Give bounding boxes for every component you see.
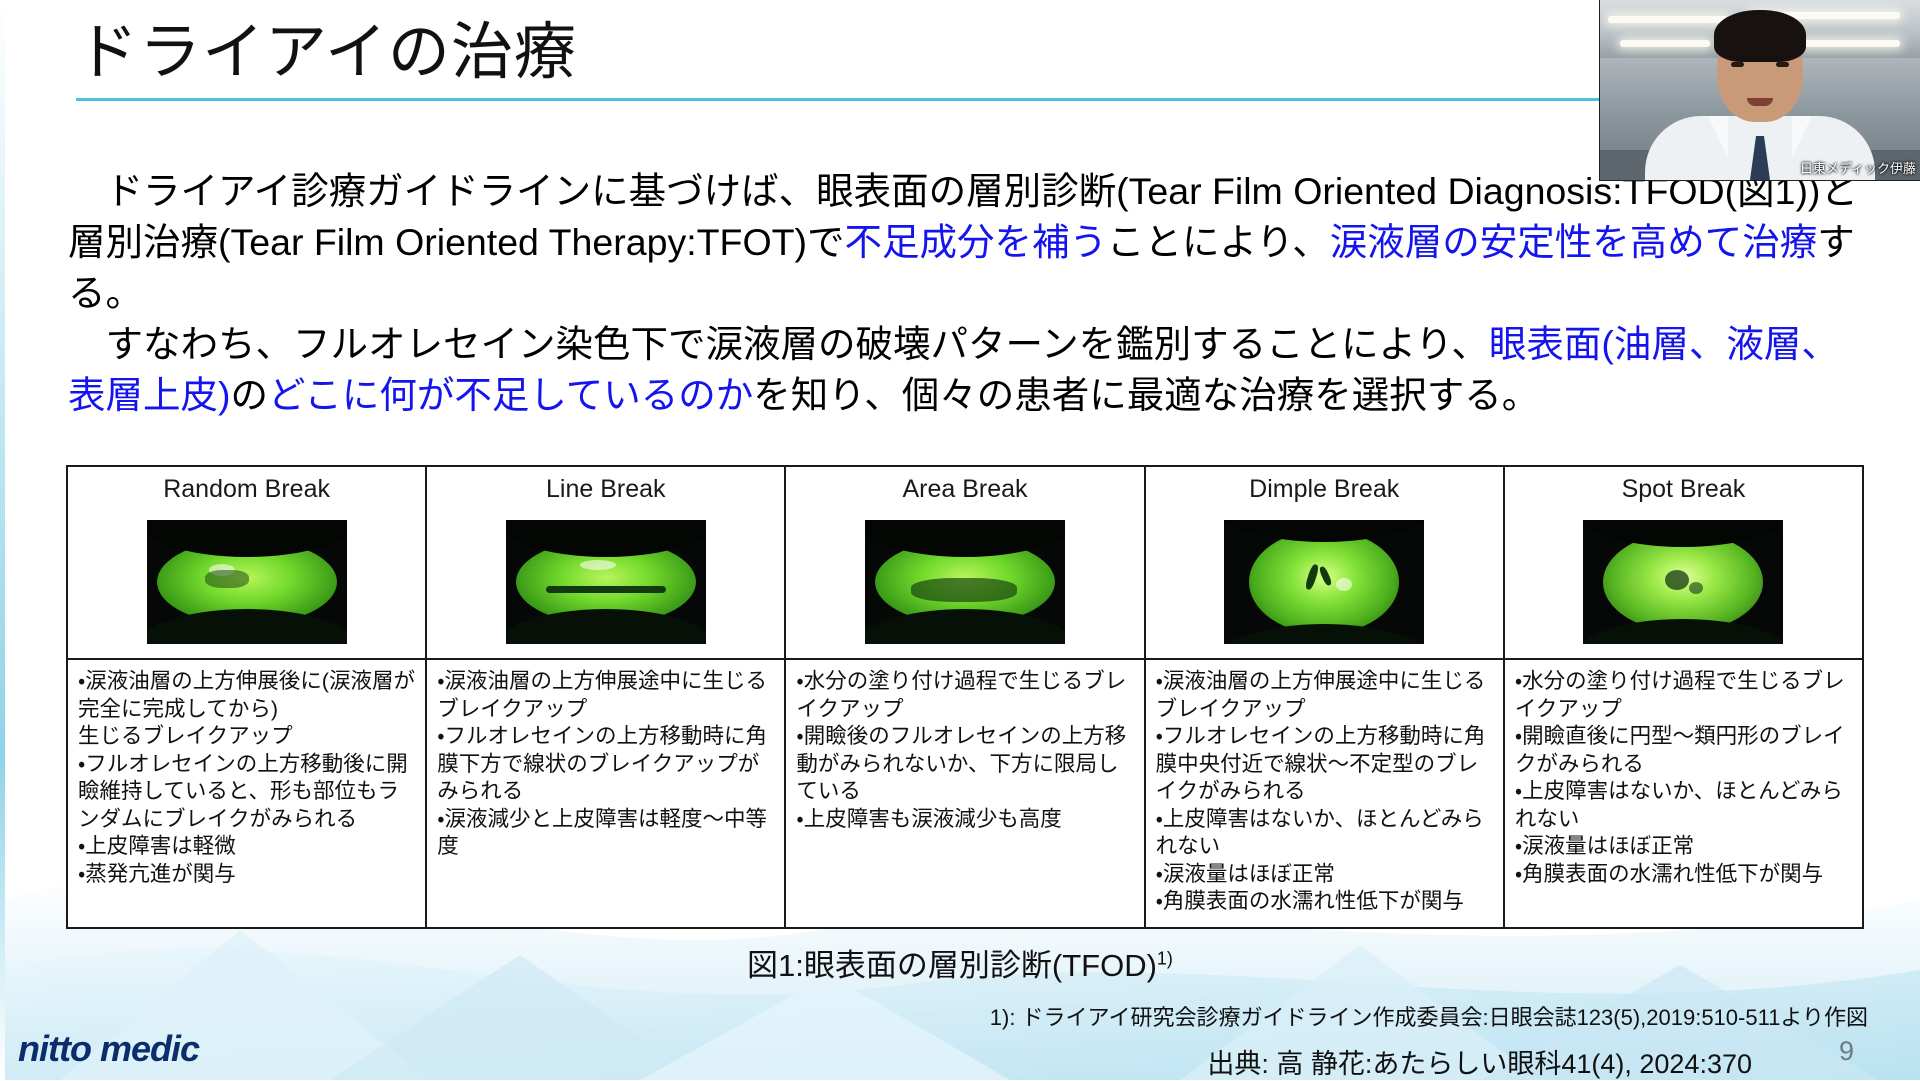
left-accent-bar — [0, 0, 5, 1080]
column-image — [1146, 512, 1503, 658]
participant-mouth — [1747, 98, 1773, 106]
participant-hair — [1714, 10, 1806, 62]
figure-caption-text: 図1:眼表面の層別診断(TFOD) — [747, 948, 1157, 983]
column-image — [68, 512, 425, 658]
column-body-text: ・涙液油層の上方伸展途中に生じるブレイクアップ ・フルオレセインの上方移動時に角… — [1146, 660, 1503, 927]
column-body-text: ・水分の塗り付け過程で生じるブレイクアップ ・開瞼後のフルオレセインの上方移動が… — [786, 660, 1143, 927]
column-header: Area Break — [786, 467, 1143, 512]
text-run: を知り、個々の患者に最適な治療を選択する。 — [753, 374, 1539, 416]
table-column-spot-break: Spot Break ・水分の塗り付け過程で生じるブレイクアップ ・開瞼直後に円… — [1505, 467, 1862, 927]
random-break-eye-photo — [147, 520, 347, 644]
paragraph-2: すなわち、フルオレセイン染色下で涙液層の破壊パターンを鑑別することにより、眼表面… — [68, 319, 1858, 421]
participant-name-label: 日東メディック伊藤 — [1800, 158, 1916, 177]
column-header: Dimple Break — [1146, 467, 1503, 512]
title-block: ドライアイの治療 — [76, 14, 1866, 101]
column-header: Random Break — [68, 467, 425, 512]
text-run: どこに何が不足しているのか — [268, 374, 753, 416]
text-run: 涙液層の安定性を高めて治療 — [1330, 221, 1818, 263]
shirt-collar-left — [1708, 116, 1728, 158]
paragraph-1: ドライアイ診療ガイドラインに基づけば、眼表面の層別診断(Tear Film Or… — [68, 166, 1858, 319]
column-image — [1505, 512, 1862, 658]
right-eye — [1776, 62, 1789, 67]
column-body-text: ・涙液油層の上方伸展後に(涙液層が完全に完成してから) 生じるブレイクアップ ・… — [68, 660, 425, 927]
table-column-dimple-break: Dimple Break ・涙液油層の上方伸展途中に生じるブレイクアップ ・フル… — [1146, 467, 1505, 927]
text-run: すなわち、フルオレセイン染色下で涙液層の破壊パターンを鑑別することにより、 — [68, 323, 1489, 365]
column-header: Line Break — [427, 467, 784, 512]
page-title: ドライアイの治療 — [76, 14, 1866, 92]
brand-logo: nitto medic — [18, 1028, 199, 1070]
text-run: の — [231, 374, 269, 416]
line-break-eye-photo — [506, 520, 706, 644]
tfod-table: Random Break ・涙液油層の上方伸展後に(涙液層が完全に完成してから)… — [66, 465, 1864, 929]
column-body-text: ・水分の塗り付け過程で生じるブレイクアップ ・開瞼直後に円型〜類円形のブレイクが… — [1505, 660, 1862, 927]
table-column-line-break: Line Break ・涙液油層の上方伸展途中に生じるブレイクアップ ・フルオレ… — [427, 467, 786, 927]
left-eye — [1731, 62, 1744, 67]
column-header: Spot Break — [1505, 467, 1862, 512]
spot-break-eye-photo — [1583, 520, 1783, 644]
column-image — [786, 512, 1143, 658]
ceiling-light — [1608, 16, 1728, 23]
text-run: 不足成分を補う — [845, 221, 1108, 263]
title-underline — [76, 98, 1861, 101]
column-body-text: ・涙液油層の上方伸展途中に生じるブレイクアップ ・フルオレセインの上方移動時に角… — [427, 660, 784, 927]
dimple-break-eye-photo — [1224, 520, 1424, 644]
ceiling-light — [1620, 40, 1710, 47]
webcam-video-tile[interactable]: 日東メディック伊藤 — [1599, 0, 1920, 181]
figure-caption-superscript: 1) — [1157, 949, 1173, 969]
area-break-eye-photo — [865, 520, 1065, 644]
column-image — [427, 512, 784, 658]
page-number: 9 — [1839, 1036, 1854, 1067]
ceiling-light — [1800, 40, 1900, 47]
shirt-collar-right — [1792, 116, 1812, 158]
table-column-random-break: Random Break ・涙液油層の上方伸展後に(涙液層が完全に完成してから)… — [68, 467, 427, 927]
figure-caption: 図1:眼表面の層別診断(TFOD)1) — [0, 940, 1920, 985]
reference-note: 1): ドライアイ研究会診療ガイドライン作成委員会:日眼会誌123(5),201… — [990, 1000, 1868, 1032]
body-text: ドライアイ診療ガイドラインに基づけば、眼表面の層別診断(Tear Film Or… — [68, 166, 1858, 421]
source-note: 出典: 高 静花:あたらしい眼科41(4), 2024:370 — [1207, 1042, 1752, 1081]
table-column-area-break: Area Break ・水分の塗り付け過程で生じるブレイクアップ ・開瞼後のフル… — [786, 467, 1145, 927]
text-run: ことにより、 — [1107, 221, 1330, 263]
